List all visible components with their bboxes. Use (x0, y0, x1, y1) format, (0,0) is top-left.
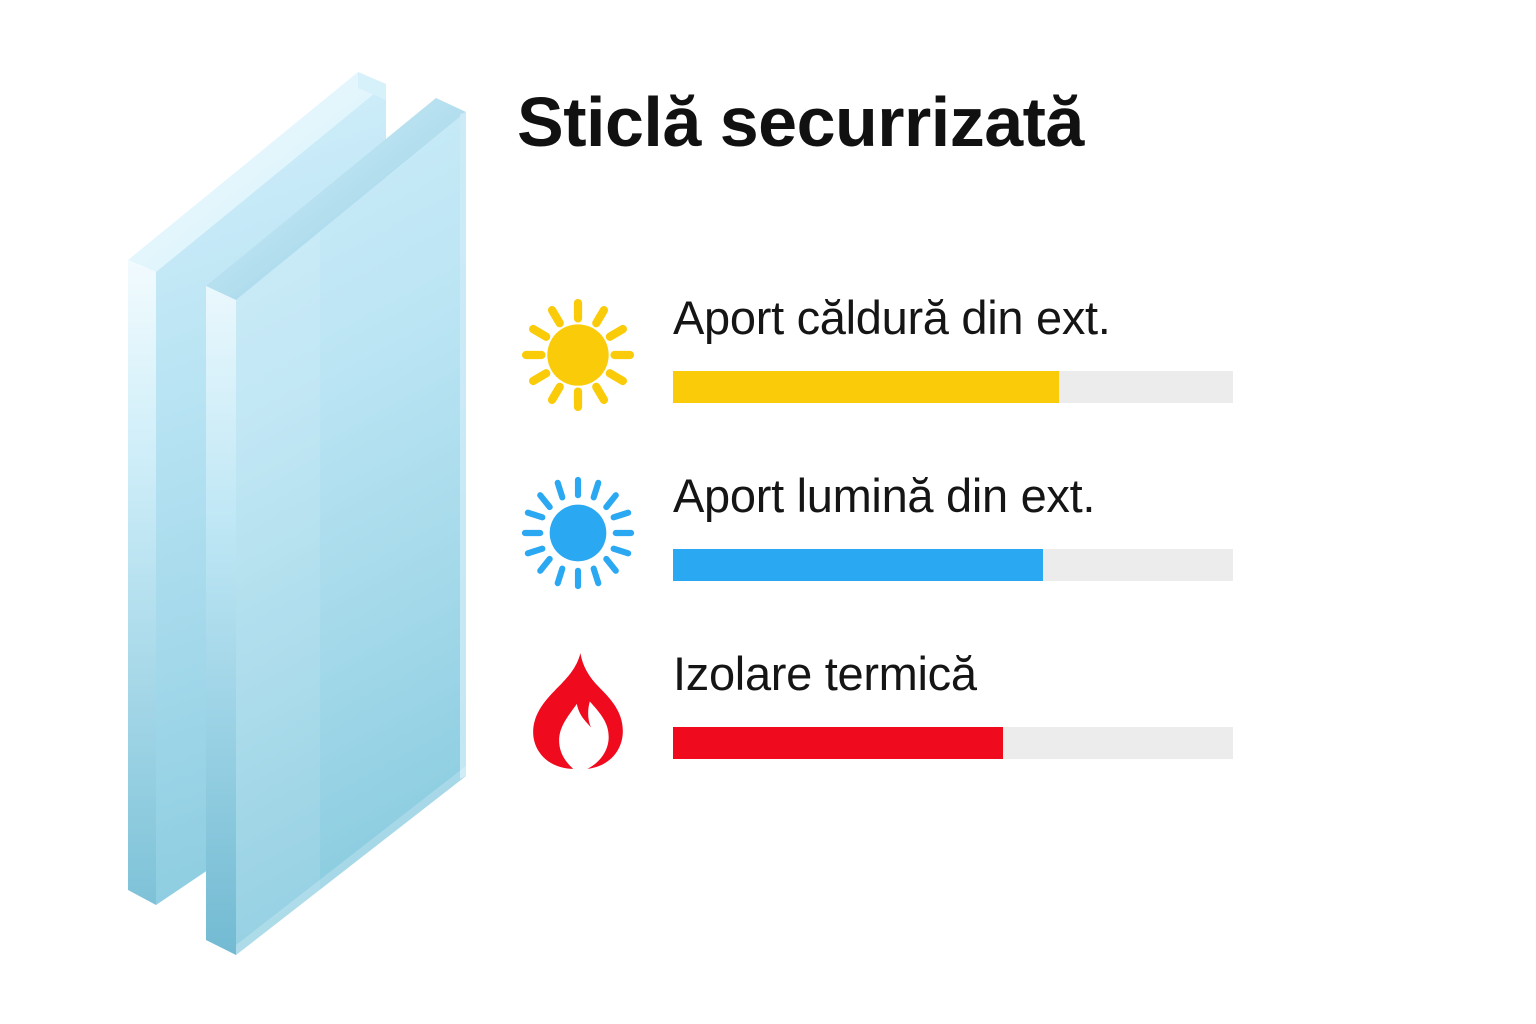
progress-track (673, 549, 1233, 581)
feature-label: Izolare termică (673, 644, 1243, 697)
progress-track (673, 371, 1233, 403)
feature-body: Aport lumină din ext. (673, 466, 1243, 581)
feature-label: Aport lumină din ext. (673, 466, 1243, 519)
flame-icon (513, 646, 643, 776)
progress-fill (673, 371, 1059, 403)
content-panel: Sticlă securrizată (505, 60, 1505, 960)
feature-row-thermal-insulation: Izolare termică (505, 644, 1505, 822)
feature-row-light-gain: Aport lumină din ext. (505, 466, 1505, 644)
glass-panel-illustration (110, 50, 500, 980)
sun-icon (513, 290, 643, 420)
feature-body: Izolare termică (673, 644, 1243, 759)
page-title: Sticlă securrizată (517, 82, 1084, 162)
feature-row-heat-gain: Aport căldură din ext. (505, 288, 1505, 466)
progress-fill (673, 549, 1043, 581)
feature-list: Aport căldură din ext. (505, 288, 1505, 822)
feature-label: Aport căldură din ext. (673, 288, 1243, 341)
feature-body: Aport căldură din ext. (673, 288, 1243, 403)
progress-track (673, 727, 1233, 759)
glass-product-infographic: Sticlă securrizată (0, 0, 1536, 1024)
sun-light-icon (513, 468, 643, 598)
progress-fill (673, 727, 1003, 759)
